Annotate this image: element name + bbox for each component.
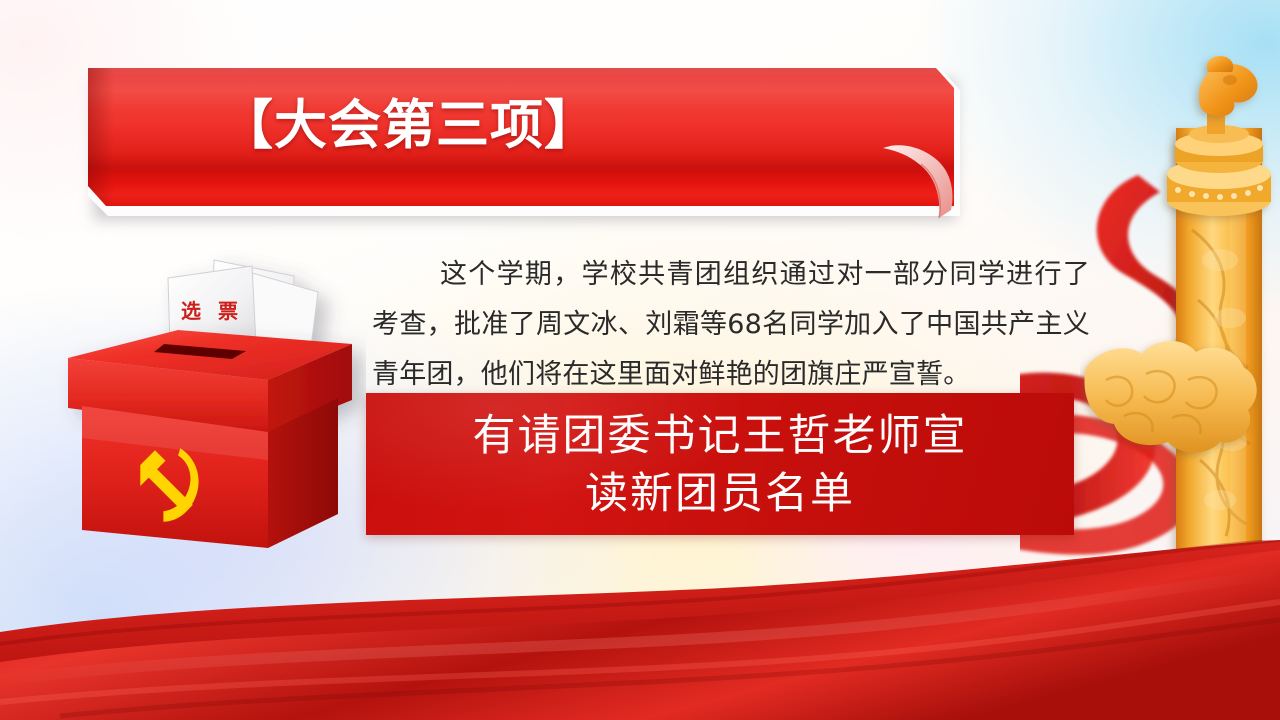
callout-line-1: 有请团委书记王哲老师宣 xyxy=(366,407,1074,465)
banner-left-shading xyxy=(88,68,114,206)
ballot-box-illustration: 选 票 xyxy=(56,248,366,588)
huabiao-column-decoration xyxy=(1080,50,1280,620)
title-banner: 【大会第三项】 xyxy=(88,68,968,220)
presentation-slide: 【大会第三项】 xyxy=(0,0,1280,720)
highlight-callout-box: 有请团委书记王哲老师宣 读新团员名单 xyxy=(366,393,1074,535)
page-title: 【大会第三项】 xyxy=(220,94,598,156)
page-fold-icon xyxy=(881,140,971,226)
red-silk-drape-decoration xyxy=(0,540,1280,720)
body-paragraph: 这个学期，学校共青团组织通过对一部分同学进行了考查，批准了周文冰、刘霜等68名同… xyxy=(372,250,1090,400)
callout-line-2: 读新团员名单 xyxy=(366,465,1074,523)
ballot-paper-label: 选 票 xyxy=(181,299,243,323)
